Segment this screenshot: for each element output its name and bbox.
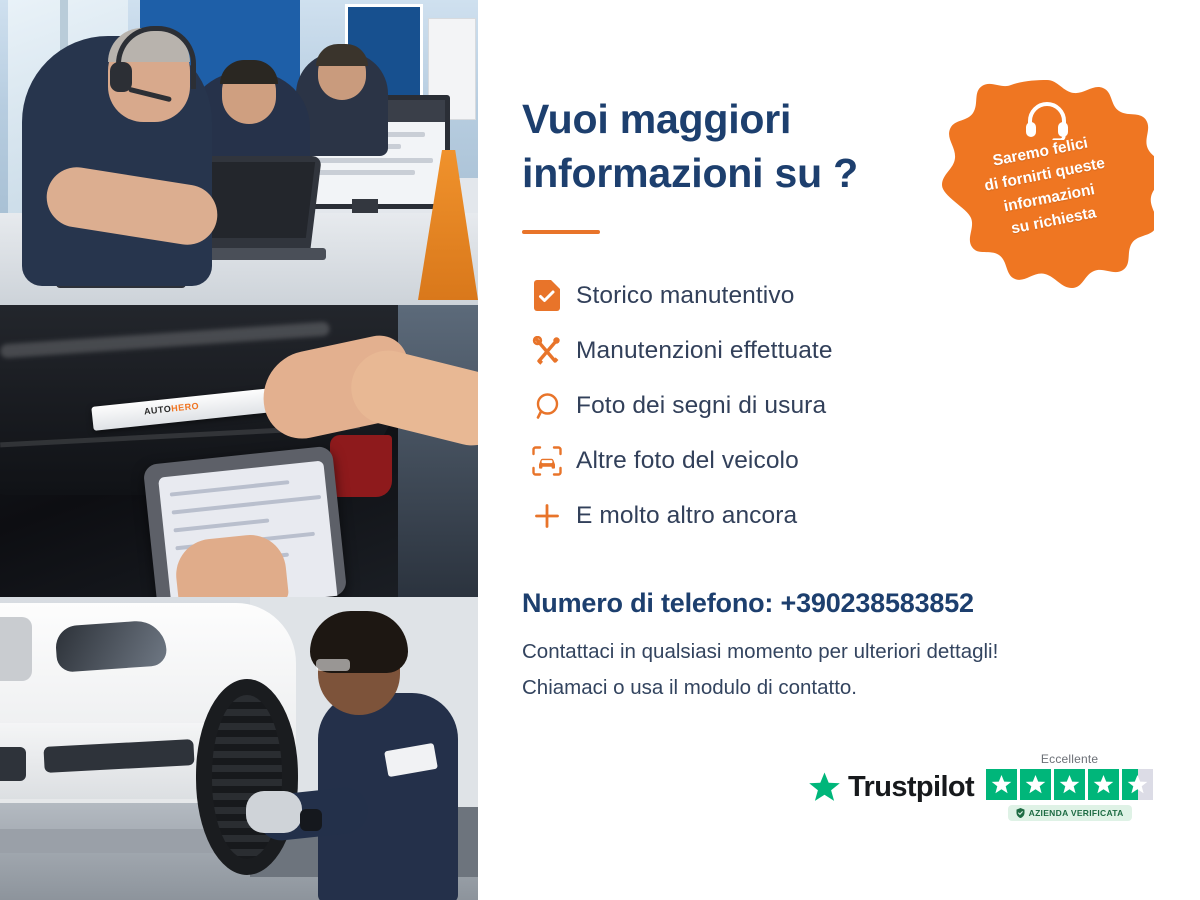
- workshop-wheel-check-photo: [0, 597, 478, 900]
- car-scan-frame-icon: [518, 446, 576, 476]
- feature-label: Storico manutentivo: [576, 282, 794, 310]
- callout-badge: Saremo felici di fornirti queste informa…: [940, 78, 1154, 292]
- trustpilot-logo: Trustpilot: [808, 771, 974, 804]
- feature-label: Manutenzioni effettuate: [576, 337, 833, 365]
- plus-icon: [518, 502, 576, 530]
- vehicle-inspection-photo: AUTOHERO: [0, 305, 478, 597]
- page-title: Vuoi maggiori informazioni su ?: [522, 92, 962, 200]
- verified-company-label: AZIENDA VERIFICATA: [1029, 808, 1124, 818]
- feature-label: E molto altro ancora: [576, 502, 797, 530]
- star-rating: [986, 769, 1153, 800]
- headset-icon: [1024, 100, 1070, 140]
- document-check-icon: [518, 280, 576, 311]
- feature-item-altre-foto: Altre foto del veicolo: [518, 433, 998, 488]
- call-center-agents-photo: [0, 0, 478, 305]
- headline-line-2: informazioni su ?: [522, 150, 858, 196]
- star-filled: [1054, 769, 1085, 800]
- contact-text-line-1: Contattaci in qualsiasi momento per ulte…: [522, 640, 998, 664]
- star-filled: [1020, 769, 1051, 800]
- tools-wrench-screwdriver-icon: [518, 336, 576, 366]
- star-filled: [1088, 769, 1119, 800]
- trustpilot-star-icon: [808, 771, 841, 804]
- star-half: [1122, 769, 1153, 800]
- feature-item-altro-ancora: E molto altro ancora: [518, 488, 998, 543]
- content-panel: Vuoi maggiori informazioni su ? Saremo f…: [478, 0, 1200, 900]
- feature-label: Foto dei segni di usura: [576, 392, 826, 420]
- contact-text-line-2: Chiamaci o usa il modulo di contatto.: [522, 676, 857, 700]
- headline-line-1: Vuoi maggiori: [522, 96, 791, 142]
- feature-item-foto-usura: Foto dei segni di usura: [518, 378, 998, 433]
- feature-label: Altre foto del veicolo: [576, 447, 799, 475]
- rating-label: Eccellente: [986, 752, 1153, 766]
- photo-column: AUTOHERO: [0, 0, 478, 900]
- trustpilot-block[interactable]: Trustpilot Eccellente: [808, 752, 1153, 823]
- shield-check-icon: [1016, 808, 1025, 818]
- star-filled: [986, 769, 1017, 800]
- feature-item-storico: Storico manutentivo: [518, 268, 998, 323]
- feature-list: Storico manutentivo Manutenzioni effettu…: [518, 268, 998, 543]
- feature-item-manutenzioni: Manutenzioni effettuate: [518, 323, 998, 378]
- trustpilot-rating: Eccellente: [986, 752, 1153, 823]
- phone-number-label[interactable]: Numero di telefono: +390238583852: [522, 588, 974, 619]
- verified-company-badge: AZIENDA VERIFICATA: [1008, 805, 1132, 821]
- trustpilot-wordmark: Trustpilot: [848, 771, 974, 804]
- title-underline-rule: [522, 230, 600, 234]
- magnifier-icon: [518, 392, 576, 420]
- promo-banner: AUTOHERO: [0, 0, 1200, 900]
